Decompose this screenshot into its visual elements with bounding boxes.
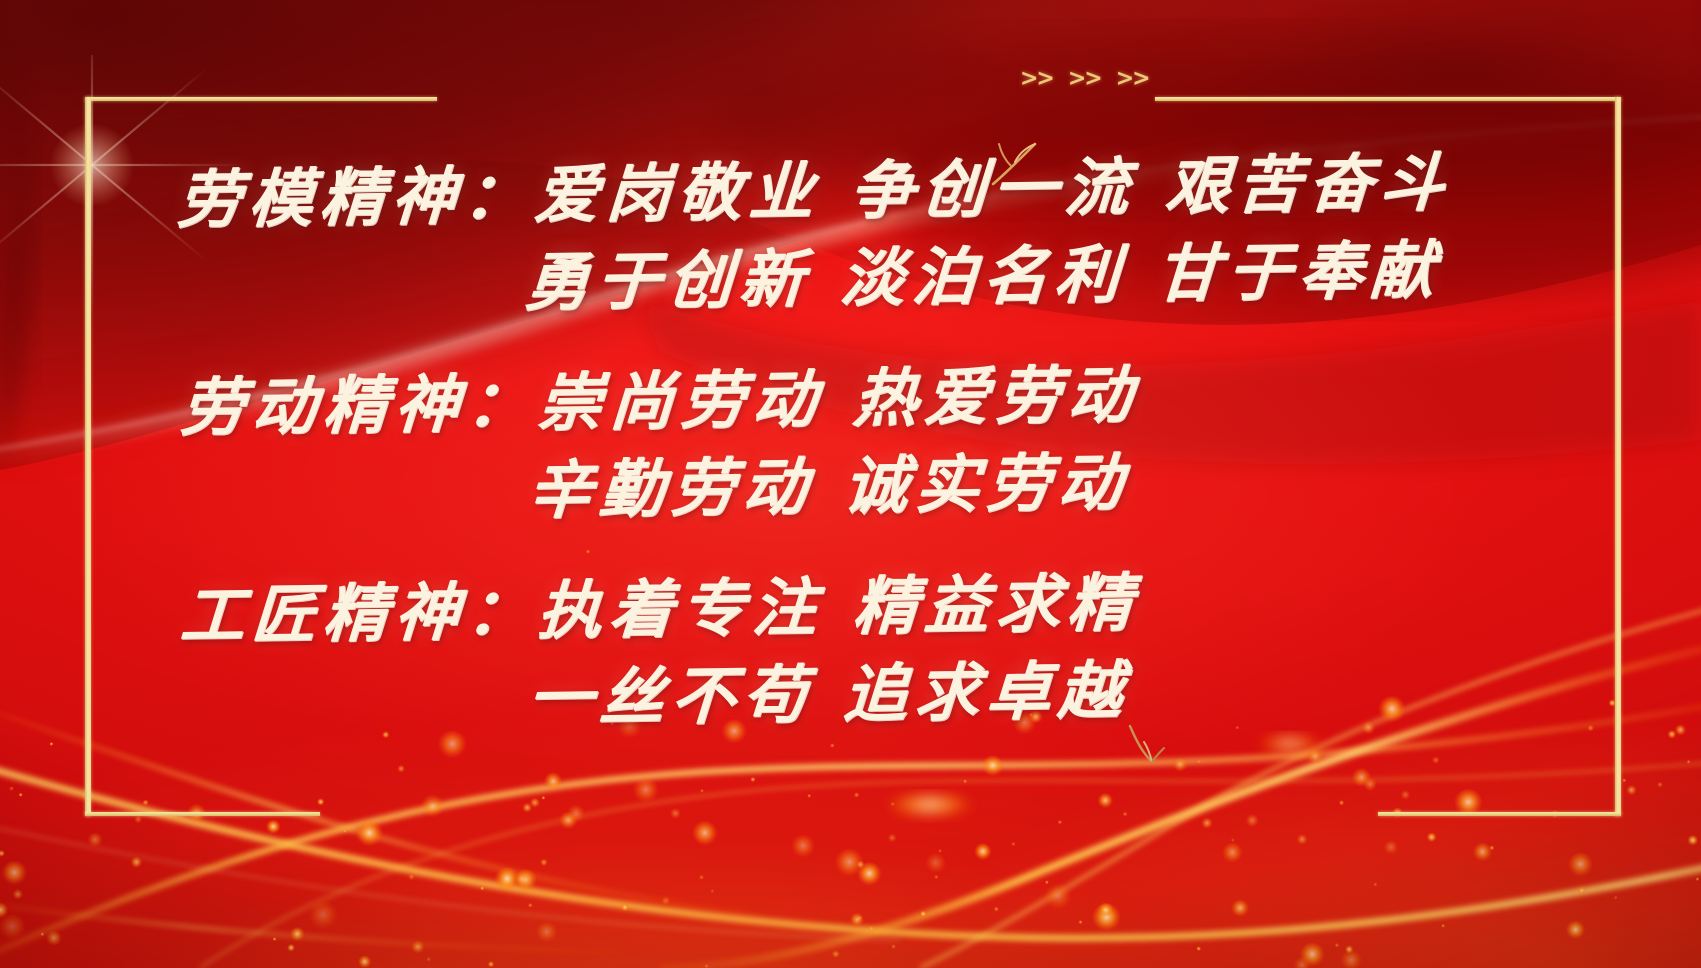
slogan-block-laodong: 劳动精神：崇尚劳动 热爱劳动 辛勤劳动 诚实劳动 [190, 370, 1129, 518]
laodong-line-2: 辛勤劳动 诚实劳动 [532, 451, 1131, 522]
slogan-block-gongjiang: 工匠精神：执着专注 精益求精 一丝不苟 追求卓越 [190, 578, 1129, 726]
laomo-line-2: 勇于创新 淡泊名利 甘于奉献 [532, 239, 1440, 315]
gongjiang-line-2: 一丝不苟 追求卓越 [532, 659, 1131, 730]
poster-canvas: >> >> >> 劳模精神：爱岗敬业 争创一流 艰苦奋斗 勇于创新 淡泊名利 甘… [0, 0, 1701, 968]
laomo-line-1: 劳模精神：爱岗敬业 争创一流 艰苦奋斗 [188, 151, 1440, 231]
gongjiang-line-1: 工匠精神：执着专注 精益求精 [188, 571, 1131, 647]
slogan-block-laomo: 劳模精神：爱岗敬业 争创一流 艰苦奋斗 勇于创新 淡泊名利 甘于奉献 [190, 160, 1438, 308]
laodong-line-1: 劳动精神：崇尚劳动 热爱劳动 [188, 363, 1131, 439]
slogan-content: 劳模精神：爱岗敬业 争创一流 艰苦奋斗 勇于创新 淡泊名利 甘于奉献 劳动精神：… [0, 0, 1701, 968]
